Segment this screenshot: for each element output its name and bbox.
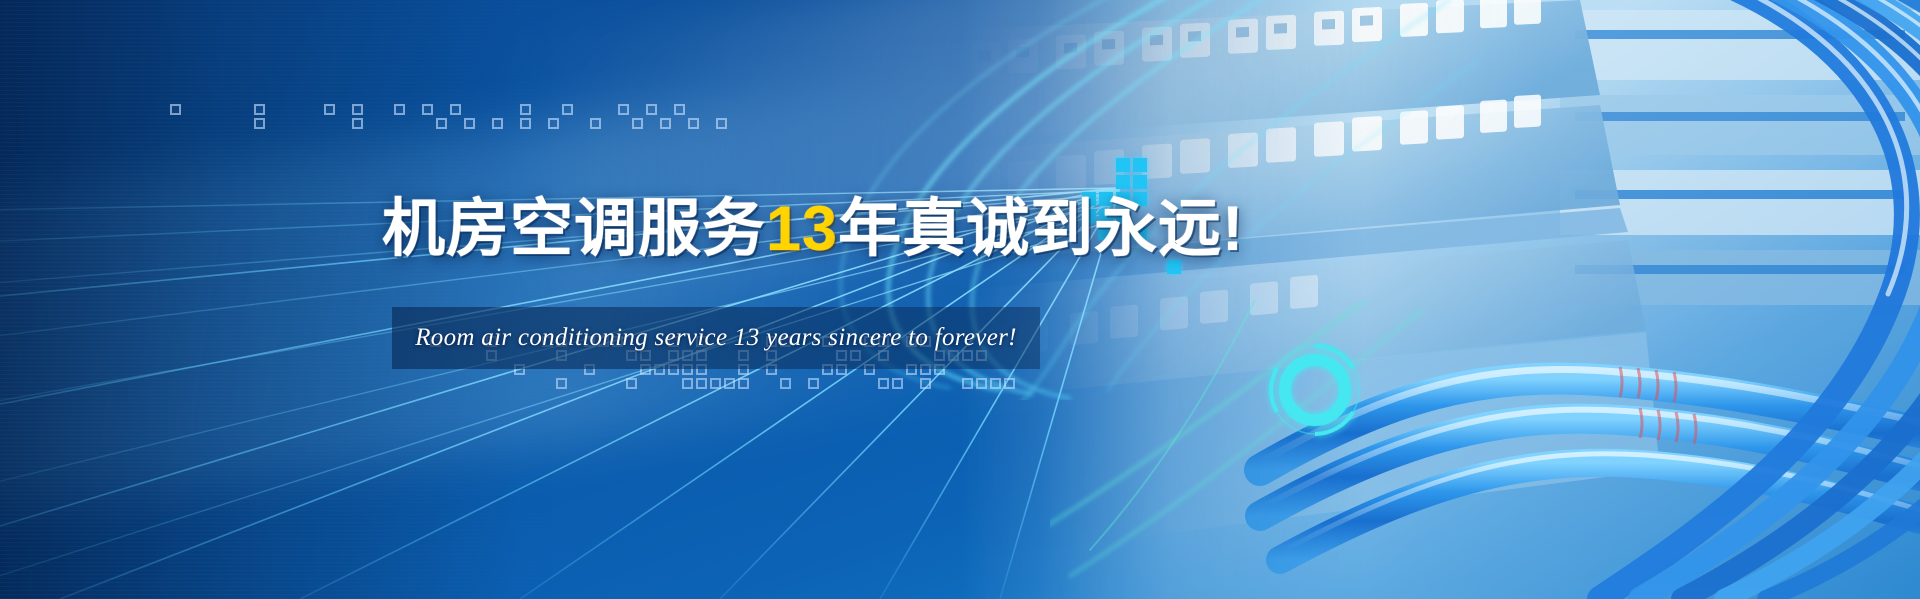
decorative-square [990,378,1001,389]
decorative-square [1004,378,1015,389]
headline-highlight-number: 13 [766,194,838,264]
mosaic-pixel [1133,158,1147,172]
hero-banner: 机房空调服务13年真诚到永远! Room air conditioning se… [0,0,1920,599]
mosaic-pixel [1116,175,1130,189]
decorative-square [556,378,567,389]
decorative-square [920,378,931,389]
decorative-square [780,378,791,389]
mosaic-pixel [1116,158,1130,172]
page-title: 机房空调服务13年真诚到永远! [382,198,1244,261]
decorative-square [724,378,735,389]
decorative-square [626,378,637,389]
subtitle: Room air conditioning service 13 years s… [392,307,1040,369]
decorative-square [962,378,973,389]
decorative-square-pattern-bottom [0,0,1920,599]
headline-prefix: 机房空调服务 [382,194,766,264]
decorative-square [738,378,749,389]
decorative-square [696,378,707,389]
decorative-square [808,378,819,389]
decorative-square [892,378,903,389]
decorative-square [878,378,889,389]
headline-suffix: 年真诚到永远! [838,194,1244,264]
decorative-square [710,378,721,389]
decorative-square [682,378,693,389]
mosaic-pixel [1133,175,1147,189]
decorative-square [976,378,987,389]
